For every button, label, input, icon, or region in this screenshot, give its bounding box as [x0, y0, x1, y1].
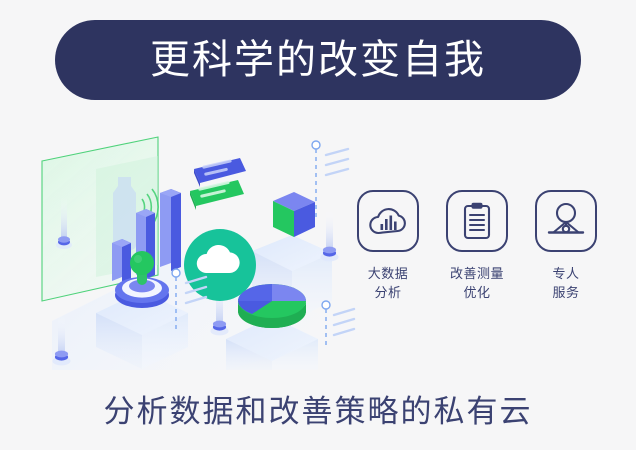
feature-label-line2: 服务	[552, 285, 579, 304]
feature-label-line1: 专人	[552, 266, 579, 285]
clipboard-icon	[446, 190, 508, 252]
support-agent-icon	[535, 190, 597, 252]
feature-label-big-data: 大数据 分析	[368, 266, 409, 304]
feature-label-line1: 大数据	[368, 266, 409, 285]
feature-label-line2: 分析	[368, 285, 409, 304]
feature-item-support[interactable]: 专人 服务	[530, 190, 602, 330]
feature-label-line1: 改善测量	[450, 266, 504, 285]
tagline: 分析数据和改善策略的私有云	[0, 386, 636, 431]
promo-banner-page: 更科学的改变自我	[0, 0, 636, 450]
feature-item-big-data[interactable]: 大数据 分析	[352, 190, 424, 330]
connector-lines-right	[326, 149, 348, 175]
feature-label-line2: 优化	[450, 285, 504, 304]
feature-item-measurement[interactable]: 改善测量 优化	[441, 190, 513, 330]
cube-icon	[273, 192, 315, 237]
isometric-data-platform-illustration	[30, 125, 360, 370]
tag-icon-green	[190, 180, 244, 210]
feature-list: 大数据 分析 改善测量 优化	[352, 190, 602, 330]
floor-pin-right	[321, 209, 339, 261]
feature-label-measurement: 改善测量 优化	[450, 266, 504, 304]
feature-label-support: 专人 服务	[552, 266, 579, 304]
page-title: 更科学的改变自我	[150, 40, 486, 80]
header-banner: 更科学的改变自我	[55, 20, 581, 100]
pie-chart-icon	[238, 284, 306, 328]
cloud-bar-chart-icon	[357, 190, 419, 252]
